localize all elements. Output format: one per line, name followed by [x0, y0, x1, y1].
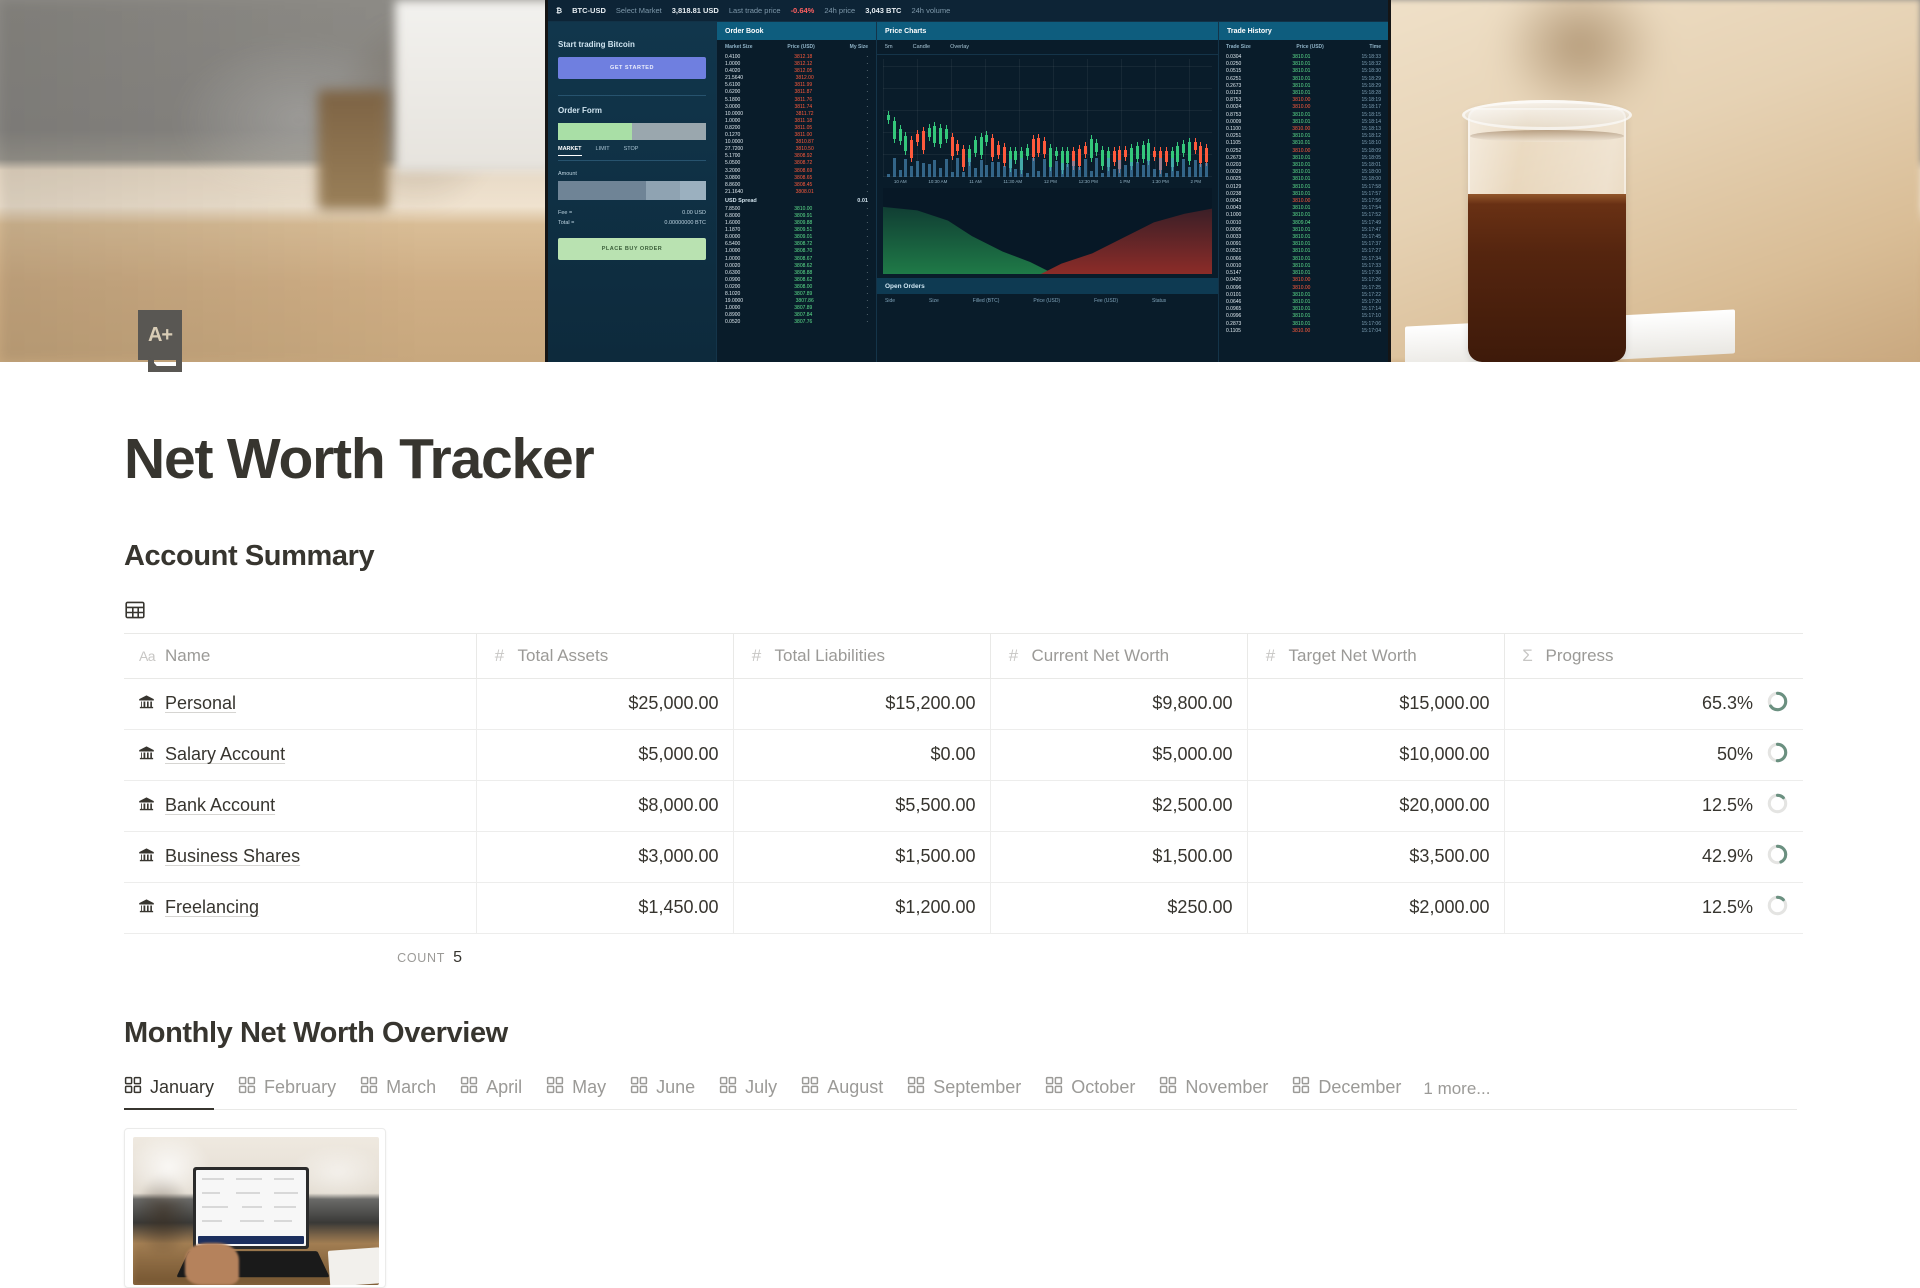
volume-bar — [1020, 158, 1023, 177]
order-book-row: 1.00003807.89· — [725, 305, 868, 312]
trade-history-row: 0.28733810.0115:17:06 — [1226, 321, 1381, 328]
volume-bar — [991, 162, 994, 177]
column-header-current-net-worth[interactable]: # Current Net Worth — [990, 633, 1247, 678]
table-row[interactable]: Business Shares$3,000.00$1,500.00$1,500.… — [124, 831, 1803, 882]
order-book-row: 5.17003808.92· — [725, 153, 868, 160]
time-tick: 11:30 AM — [1003, 179, 1022, 184]
cell-target-net-worth[interactable]: $2,000.00 — [1247, 882, 1504, 933]
order-book-row: 5.05003808.72· — [725, 160, 868, 167]
cell-progress[interactable]: 42.9% — [1504, 831, 1803, 882]
volume-bar — [1003, 166, 1006, 177]
order-tab-limit: LIMIT — [596, 146, 610, 156]
volume-bar — [1136, 162, 1139, 177]
progress-ring — [1766, 843, 1789, 871]
order-book-asks: 0.41003812.18·1.00003812.12·0.40203812.0… — [717, 54, 876, 196]
candle — [916, 134, 919, 142]
candle — [1124, 150, 1127, 156]
table-row[interactable]: Salary Account$5,000.00$0.00$5,000.00$10… — [124, 729, 1803, 780]
candle — [928, 128, 931, 137]
candle — [1026, 148, 1029, 156]
gallery-grid-icon — [124, 1076, 142, 1099]
candle — [1205, 148, 1208, 163]
col-market-size: Market Size — [725, 44, 753, 50]
trade-history-rows: 0.03043810.0115:18:330.02503810.0115:18:… — [1219, 54, 1388, 335]
table-grid-icon — [124, 599, 146, 621]
progress-ring — [1766, 792, 1789, 820]
tab-label: October — [1071, 1077, 1135, 1098]
open-orders-column: Price (USD) — [1033, 298, 1060, 304]
candle — [1182, 144, 1185, 153]
tab-january[interactable]: January — [124, 1072, 226, 1109]
volume-bar — [1205, 163, 1208, 177]
cell-current-net-worth[interactable]: $2,500.00 — [990, 780, 1247, 831]
volume-bar — [893, 158, 896, 177]
depth-chart — [883, 188, 1212, 274]
tab-june[interactable]: June — [618, 1072, 707, 1109]
cell-progress[interactable]: 12.5% — [1504, 780, 1803, 831]
volume-bar — [1055, 161, 1058, 177]
order-book-title: Order Book — [717, 22, 876, 40]
open-orders-column: Filled (BTC) — [973, 298, 1000, 304]
column-header-total-liabilities[interactable]: # Total Liabilities — [733, 633, 990, 678]
order-book-row: 3.08003808.65· — [725, 175, 868, 182]
volume-bar — [928, 164, 931, 177]
tab-april[interactable]: April — [448, 1072, 534, 1109]
progress-label: 50% — [1717, 744, 1753, 765]
laptop-screen — [196, 1170, 306, 1246]
paper-on-desk — [328, 1247, 379, 1285]
volume-bar — [1194, 160, 1197, 177]
trade-history-row: 0.11053810.0115:18:10 — [1226, 140, 1381, 147]
cell-current-net-worth[interactable]: $9,800.00 — [990, 678, 1247, 729]
laptop-illustration — [193, 1167, 309, 1249]
trade-history-row: 0.00913810.0115:17:37 — [1226, 241, 1381, 248]
tab-label: February — [264, 1077, 336, 1098]
cell-total-liabilities[interactable]: $15,200.00 — [733, 678, 990, 729]
tab-march[interactable]: March — [348, 1072, 448, 1109]
jar-body — [1468, 108, 1626, 362]
candle — [1142, 145, 1145, 158]
open-orders-column: Fee (USD) — [1094, 298, 1118, 304]
volume-bar — [939, 168, 942, 177]
buy-sell-toggle — [558, 123, 706, 140]
col-trade-price: Price (USD) — [1296, 44, 1324, 50]
candle — [893, 121, 896, 139]
row-name-label: Business Shares — [165, 846, 300, 867]
tab-label: May — [572, 1077, 606, 1098]
order-book-row: 1.00003811.18· — [725, 118, 868, 125]
column-header-progress[interactable]: Σ Progress — [1504, 633, 1803, 678]
place-buy-order-button: PLACE BUY ORDER — [558, 238, 706, 260]
candle — [1090, 139, 1093, 158]
trade-history-row: 0.05213810.0115:17:27 — [1226, 248, 1381, 255]
order-book-columns: Market Size Price (USD) My Size — [717, 40, 876, 54]
bank-icon — [138, 745, 155, 765]
row-name-label: Personal — [165, 693, 236, 714]
number-type-icon: # — [491, 646, 509, 666]
order-book-row: 27.72003810.50· — [725, 146, 868, 153]
volume-bar — [1095, 158, 1098, 177]
cell-name[interactable]: Freelancing — [124, 882, 476, 933]
trade-history-row: 0.03043810.0115:18:33 — [1226, 54, 1381, 61]
cell-total-assets[interactable]: $1,450.00 — [476, 882, 733, 933]
trade-history-row: 0.00053810.0115:17:47 — [1226, 227, 1381, 234]
table-row[interactable]: Freelancing$1,450.00$1,200.00$250.00$2,0… — [124, 882, 1803, 933]
order-book-row: 6.80003809.91· — [725, 213, 868, 220]
order-book-row: 7.85003810.00· — [725, 206, 868, 213]
order-book-row: 0.63003808.88· — [725, 270, 868, 277]
account-summary-table[interactable]: Aa Name # Total Assets # Total Liabiliti… — [124, 633, 1803, 934]
tab-may[interactable]: May — [534, 1072, 618, 1109]
volume-bar — [1061, 163, 1064, 177]
volume-bar — [956, 158, 959, 177]
order-type-tabs: MARKET LIMIT STOP — [558, 146, 706, 161]
gallery-grid-icon — [801, 1076, 819, 1099]
trade-history-row: 0.01013810.0115:17:22 — [1226, 292, 1381, 299]
fee-value: 0.00 USD — [682, 210, 706, 216]
col-trade-size: Trade Size — [1226, 44, 1251, 50]
order-book-row: 0.40203812.05· — [725, 68, 868, 75]
bank-icon — [138, 898, 155, 918]
trade-history-row: 0.00333810.0115:17:45 — [1226, 234, 1381, 241]
trade-history-row: 0.02503810.0115:18:32 — [1226, 61, 1381, 68]
gallery-grid-icon — [238, 1076, 256, 1099]
gallery-grid-icon — [719, 1076, 737, 1099]
progress-ring — [1766, 894, 1789, 922]
table-row[interactable]: Bank Account$8,000.00$5,500.00$2,500.00$… — [124, 780, 1803, 831]
trade-history-row: 0.26733810.0115:18:05 — [1226, 155, 1381, 162]
order-book-row: 8.10203807.89· — [725, 291, 868, 298]
tab-september[interactable]: September — [895, 1072, 1033, 1109]
trade-history-row: 0.04203810.0015:17:26 — [1226, 277, 1381, 284]
monitor-trading-dashboard: ₿ BTC-USD Select Market 3,818.81 USD Las… — [548, 0, 1388, 362]
candle — [1055, 151, 1058, 156]
order-book-row: 0.00203808.62· — [725, 263, 868, 270]
tab-august[interactable]: August — [789, 1072, 895, 1109]
trade-history-row: 0.00103810.0115:17:33 — [1226, 263, 1381, 270]
trade-history-row: 0.00103809.0415:17:49 — [1226, 220, 1381, 227]
trade-history-row: 0.00243810.0015:18:17 — [1226, 104, 1381, 111]
cell-progress[interactable]: 65.3% — [1504, 678, 1803, 729]
cell-total-liabilities[interactable]: $1,500.00 — [733, 831, 990, 882]
open-orders-column: Size — [929, 298, 939, 304]
candle — [956, 144, 959, 151]
chart-time-axis: 10 AM10:30 AM11 AM11:30 AM12 PM12:30 PM1… — [877, 177, 1218, 184]
row-name-label: Freelancing — [165, 897, 259, 918]
gallery-grid-icon — [546, 1076, 564, 1099]
gallery-grid-icon — [630, 1076, 648, 1099]
volume-bar — [1049, 167, 1052, 177]
jar-coffee-liquid — [1468, 194, 1626, 362]
cell-total-assets[interactable]: $5,000.00 — [476, 729, 733, 780]
column-header-name-label: Name — [165, 646, 210, 666]
order-book-row: 1.00003808.70· — [725, 248, 868, 255]
cell-total-assets[interactable]: $8,000.00 — [476, 780, 733, 831]
tab-december[interactable]: December — [1280, 1072, 1413, 1109]
number-type-icon: # — [1005, 646, 1023, 666]
chart-type: Candle — [913, 44, 930, 50]
cell-total-liabilities[interactable]: $0.00 — [733, 729, 990, 780]
order-book-row: 21.56403812.00· — [725, 75, 868, 82]
order-book-bids: 7.85003810.00·6.80003809.91·1.60003809.8… — [717, 206, 876, 327]
trade-history-columns: Trade Size Price (USD) Time — [1219, 40, 1388, 54]
formula-type-icon: Σ — [1519, 646, 1537, 666]
candle — [1084, 146, 1087, 154]
candle — [1188, 142, 1191, 161]
volume-bar — [974, 168, 977, 177]
order-book-row: 5.61003811.99· — [725, 82, 868, 89]
time-tick: 1:30 PM — [1152, 179, 1169, 184]
jar-rim — [1462, 100, 1632, 130]
volume-bar — [1066, 164, 1069, 177]
candle — [1153, 151, 1156, 158]
candlestick-chart — [883, 59, 1212, 177]
tab-label: August — [827, 1077, 883, 1098]
order-book-row: 8.86003808.45· — [725, 182, 868, 189]
jar-ring — [1470, 130, 1624, 142]
volume-bar — [1188, 167, 1191, 177]
order-book-row: 0.62003811.87· — [725, 89, 868, 96]
cell-target-net-worth[interactable]: $20,000.00 — [1247, 780, 1504, 831]
tab-february[interactable]: February — [226, 1072, 348, 1109]
column-header-target-net-worth-label: Target Net Worth — [1289, 646, 1417, 666]
volume-bar — [1078, 167, 1081, 177]
candle — [1147, 143, 1150, 161]
column-header-progress-label: Progress — [1546, 646, 1614, 666]
col-my-size: My Size — [850, 44, 868, 50]
monitor-order-panel: Start trading Bitcoin GET STARTED Order … — [548, 22, 716, 362]
count-summary[interactable]: COUNT 5 — [124, 935, 476, 967]
volume-bar — [1107, 158, 1110, 177]
cell-current-net-worth[interactable]: $250.00 — [990, 882, 1247, 933]
tab-october[interactable]: October — [1033, 1072, 1147, 1109]
trade-history-row: 0.02523810.0015:18:09 — [1226, 148, 1381, 155]
cell-progress[interactable]: 12.5% — [1504, 882, 1803, 933]
candle — [933, 126, 936, 143]
cell-name[interactable]: Business Shares — [124, 831, 476, 882]
candle — [1032, 139, 1035, 156]
volume-bar — [933, 160, 936, 177]
volume-bar — [980, 160, 983, 177]
count-label: COUNT — [397, 951, 445, 965]
volume-bar — [1043, 159, 1046, 177]
candle — [985, 135, 988, 142]
cover-image[interactable]: ₿ BTC-USD Select Market 3,818.81 USD Las… — [0, 0, 1920, 362]
cell-current-net-worth[interactable]: $5,000.00 — [990, 729, 1247, 780]
cell-progress[interactable]: 50% — [1504, 729, 1803, 780]
cell-name[interactable]: Bank Account — [124, 780, 476, 831]
time-tick: 12 PM — [1044, 179, 1057, 184]
trade-history-row: 0.09963810.0115:17:10 — [1226, 313, 1381, 320]
tab-november[interactable]: November — [1147, 1072, 1280, 1109]
candle — [1136, 146, 1139, 159]
bank-icon — [138, 694, 155, 714]
trade-history-row: 0.10003810.0115:17:52 — [1226, 212, 1381, 219]
volume-bar — [1032, 158, 1035, 177]
volume-bar — [945, 159, 948, 177]
volume-bar — [985, 165, 988, 177]
tab-label: January — [150, 1077, 214, 1098]
trade-history-row: 0.87533810.0015:18:19 — [1226, 97, 1381, 104]
volume-bar — [1153, 169, 1156, 177]
chart-overlay: Overlay — [950, 44, 969, 50]
cover-coffee-jar — [1462, 88, 1632, 362]
total-row: Total = 0.00000000 BTC — [558, 220, 706, 226]
chart-tools: 5m Candle Overlay — [877, 40, 1218, 55]
order-book-row: 0.12703811.00· — [725, 132, 868, 139]
last-price: 3,818.81 USD — [672, 6, 719, 15]
time-tick: 2 PM — [1190, 179, 1201, 184]
amount-value-field — [646, 181, 680, 200]
currency-field — [680, 181, 706, 200]
candle — [974, 140, 977, 153]
monthly-overview-heading[interactable]: Monthly Net Worth Overview — [124, 1017, 1797, 1050]
candle — [997, 145, 1000, 156]
order-book-row: 0.82003811.05· — [725, 125, 868, 132]
gallery-view — [124, 1128, 1797, 1288]
cell-name[interactable]: Salary Account — [124, 729, 476, 780]
gallery-grid-icon — [460, 1076, 478, 1099]
volume-bar — [887, 174, 890, 177]
trade-history-row: 0.11003810.0015:18:13 — [1226, 126, 1381, 133]
trade-history-row: 0.62513810.0115:18:29 — [1226, 76, 1381, 83]
gallery-card[interactable] — [124, 1128, 386, 1288]
open-orders-column: Side — [885, 298, 895, 304]
monitor-trade-history: Trade History Trade Size Price (USD) Tim… — [1218, 22, 1388, 362]
gallery-grid-icon — [907, 1076, 925, 1099]
candle — [1037, 138, 1040, 153]
account-summary-heading[interactable]: Account Summary — [124, 540, 1797, 573]
volume-bar — [1171, 158, 1174, 177]
depth-bids-area — [883, 188, 1054, 274]
row-name-label: Salary Account — [165, 744, 285, 765]
order-form-title: Order Form — [558, 106, 706, 115]
cell-total-liabilities[interactable]: $5,500.00 — [733, 780, 990, 831]
tab-july[interactable]: July — [707, 1072, 789, 1109]
progress-label: 42.9% — [1702, 846, 1753, 867]
tab-label: June — [656, 1077, 695, 1098]
spread-value: 0.01 — [857, 198, 868, 204]
get-started-button: GET STARTED — [558, 57, 706, 79]
order-book-row: 19.00003807.86· — [725, 298, 868, 305]
cell-target-net-worth[interactable]: $15,000.00 — [1247, 678, 1504, 729]
open-orders-title: Open Orders — [877, 278, 1218, 294]
candle — [1078, 149, 1081, 166]
candle — [962, 149, 965, 167]
panel-divider — [558, 95, 706, 96]
order-book-row: 3.20003808.69· — [725, 168, 868, 175]
volume-bar — [951, 172, 954, 177]
time-tick: 11 AM — [969, 179, 981, 184]
time-tick: 10 AM — [894, 179, 907, 184]
gallery-grid-icon — [360, 1076, 378, 1099]
chart-interval: 5m — [885, 44, 893, 50]
cell-total-assets[interactable]: $3,000.00 — [476, 831, 733, 882]
row-name-label: Bank Account — [165, 795, 275, 816]
candle — [1066, 151, 1069, 163]
trade-history-row: 0.02033810.0115:18:01 — [1226, 162, 1381, 169]
progress-label: 12.5% — [1702, 795, 1753, 816]
candle — [1165, 151, 1168, 162]
cover-wall-blur — [395, 0, 555, 172]
amount-label: Amount — [558, 171, 577, 177]
column-header-target-net-worth[interactable]: # Target Net Worth — [1247, 633, 1504, 678]
price-change: -0.64% — [791, 6, 815, 15]
volume-bar — [1072, 161, 1075, 177]
table-row[interactable]: Personal$25,000.00$15,200.00$9,800.00$15… — [124, 678, 1803, 729]
cell-total-assets[interactable]: $25,000.00 — [476, 678, 733, 729]
volume-bar — [968, 158, 971, 177]
cell-current-net-worth[interactable]: $1,500.00 — [990, 831, 1247, 882]
trade-history-row: 0.02513810.0115:18:12 — [1226, 133, 1381, 140]
page-content: Net Worth Tracker Account Summary Aa — [0, 362, 1920, 1288]
cover-pot-blur — [318, 90, 388, 210]
cell-target-net-worth[interactable]: $10,000.00 — [1247, 729, 1504, 780]
page-title[interactable]: Net Worth Tracker — [124, 430, 1797, 490]
gallery-grid-icon — [1292, 1076, 1310, 1099]
number-type-icon: # — [1262, 646, 1280, 666]
count-value: 5 — [453, 949, 462, 967]
candle — [1176, 146, 1179, 163]
trade-history-row: 0.01293810.0115:17:58 — [1226, 184, 1381, 191]
order-book-row: 3.00003811.74· — [725, 104, 868, 111]
price-change-label: 24h price — [824, 6, 855, 15]
volume-bar — [1142, 165, 1145, 177]
column-header-total-liabilities-label: Total Liabilities — [775, 646, 886, 666]
volume: 3,043 BTC — [865, 6, 901, 15]
amount-label-row: Amount — [558, 171, 706, 177]
cell-target-net-worth[interactable]: $3,500.00 — [1247, 831, 1504, 882]
time-tick: 10:30 AM — [928, 179, 947, 184]
tab-label: July — [745, 1077, 777, 1098]
tabs-more-button[interactable]: 1 more... — [1413, 1075, 1500, 1109]
column-header-total-assets[interactable]: # Total Assets — [476, 633, 733, 678]
trade-history-row: 0.01233810.0115:18:28 — [1226, 90, 1381, 97]
candle — [1101, 150, 1104, 167]
volume-bar — [910, 166, 913, 177]
order-book-row: 10.00003810.87· — [725, 139, 868, 146]
monitor-order-book: Order Book Market Size Price (USD) My Si… — [716, 22, 876, 362]
cell-name[interactable]: Personal — [124, 678, 476, 729]
amount-input-row — [558, 181, 706, 200]
number-type-icon: # — [748, 646, 766, 666]
fee-row: Fee = 0.00 USD — [558, 210, 706, 216]
cell-total-liabilities[interactable]: $1,200.00 — [733, 882, 990, 933]
start-trading-heading: Start trading Bitcoin — [558, 40, 706, 49]
trade-history-row: 0.00433810.0015:17:56 — [1226, 198, 1381, 205]
volume-bar — [1176, 171, 1179, 177]
candle — [939, 128, 942, 144]
column-header-name[interactable]: Aa Name — [124, 633, 476, 678]
order-book-row: 1.60003809.88· — [725, 220, 868, 227]
volume-bar — [1165, 173, 1168, 177]
market-selector: Select Market — [616, 6, 662, 15]
column-header-current-net-worth-label: Current Net Worth — [1032, 646, 1170, 666]
volume-bar — [1118, 160, 1121, 177]
price-chart-title: Price Charts — [877, 22, 1218, 40]
order-book-row: 0.41003812.18· — [725, 54, 868, 61]
volume-bar — [1090, 171, 1093, 177]
trade-history-title: Trade History — [1219, 22, 1388, 40]
trade-history-row: 0.11053810.0015:17:04 — [1226, 328, 1381, 335]
tab-label: September — [933, 1077, 1021, 1098]
tab-label: December — [1318, 1077, 1401, 1098]
order-book-row: 1.00003812.12· — [725, 61, 868, 68]
candle — [945, 129, 948, 140]
col-trade-time: Time — [1369, 44, 1381, 50]
trade-history-row: 0.00293810.0115:18:00 — [1226, 169, 1381, 176]
month-tabs[interactable]: JanuaryFebruaryMarchAprilMayJuneJulyAugu… — [124, 1072, 1797, 1110]
